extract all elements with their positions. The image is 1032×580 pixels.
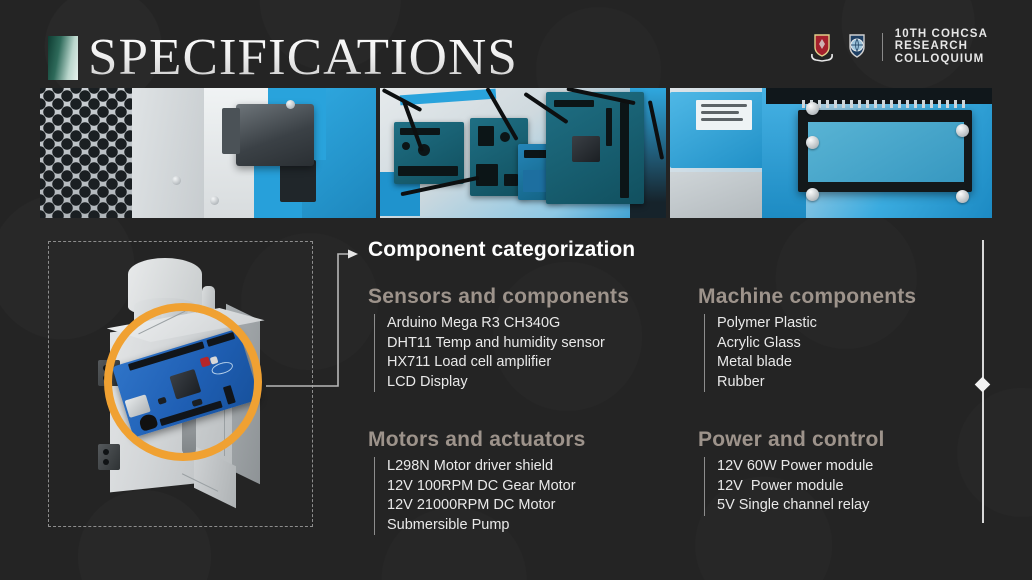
category-motors-and-actuators: Motors and actuators L298N Motor driver … xyxy=(368,428,698,535)
list-item: HX711 Load cell amplifier xyxy=(387,353,698,373)
lcd-display-motor-photo xyxy=(670,88,992,218)
callout-connector xyxy=(264,246,360,392)
categories-grid: Sensors and components Arduino Mega R3 C… xyxy=(368,285,978,535)
category-power-and-control: Power and control 12V 60W Power module 1… xyxy=(698,428,978,535)
list-item: 12V 100RPM DC Gear Motor xyxy=(387,477,698,497)
category-item-list: 12V 60W Power module 12V Power module 5V… xyxy=(704,457,978,516)
category-item-list: Arduino Mega R3 CH340G DHT11 Temp and hu… xyxy=(374,314,698,392)
category-machine-components: Machine components Polymer Plastic Acryl… xyxy=(698,285,978,392)
list-item: Metal blade xyxy=(717,353,978,373)
component-categorization-block: Component categorization xyxy=(368,238,968,266)
category-title: Machine components xyxy=(698,285,978,309)
list-item: DHT11 Temp and humidity sensor xyxy=(387,334,698,354)
main-heading: Component categorization xyxy=(368,238,968,262)
event-logo: 10TH COHCSA RESEARCH COLLOQUIUM xyxy=(809,28,988,65)
page-title: SPECIFICATIONS xyxy=(48,32,509,84)
logo-text: 10TH COHCSA RESEARCH COLLOQUIUM xyxy=(895,28,988,65)
control-boards-photo xyxy=(380,88,666,218)
list-item: LCD Display xyxy=(387,373,698,393)
category-item-list: Polymer Plastic Acrylic Glass Metal blad… xyxy=(704,314,978,392)
shield-crest-icon xyxy=(809,32,835,62)
logo-divider xyxy=(882,33,883,61)
list-item: Acrylic Glass xyxy=(717,334,978,354)
list-item: 12V 21000RPM DC Motor xyxy=(387,496,698,516)
globe-crest-icon xyxy=(844,32,870,62)
list-item: 5V Single channel relay xyxy=(717,496,978,516)
list-item: Arduino Mega R3 CH340G xyxy=(387,314,698,334)
list-item: L298N Motor driver shield xyxy=(387,457,698,477)
list-item: 12V Power module xyxy=(717,477,978,497)
category-sensors-and-components: Sensors and components Arduino Mega R3 C… xyxy=(368,285,698,392)
perforated-panel-gearbox-photo xyxy=(40,88,376,218)
category-title: Power and control xyxy=(698,428,978,452)
category-title: Motors and actuators xyxy=(368,428,698,452)
list-item: Rubber xyxy=(717,373,978,393)
list-item: Polymer Plastic xyxy=(717,314,978,334)
arduino-mega-board-highlight xyxy=(104,303,262,461)
logo-line-1: 10TH COHCSA xyxy=(895,28,988,40)
title-text: SPECIFICATIONS xyxy=(88,32,518,84)
list-item: Submersible Pump xyxy=(387,516,698,536)
category-item-list: L298N Motor driver shield 12V 100RPM DC … xyxy=(374,457,698,535)
photo-strip xyxy=(40,88,992,218)
title-accent-block xyxy=(48,36,78,80)
arrow-right-icon xyxy=(348,250,358,259)
logo-line-2: RESEARCH xyxy=(895,40,988,52)
category-title: Sensors and components xyxy=(368,285,698,309)
logo-line-3: COLLOQUIUM xyxy=(895,53,988,65)
list-item: 12V 60W Power module xyxy=(717,457,978,477)
